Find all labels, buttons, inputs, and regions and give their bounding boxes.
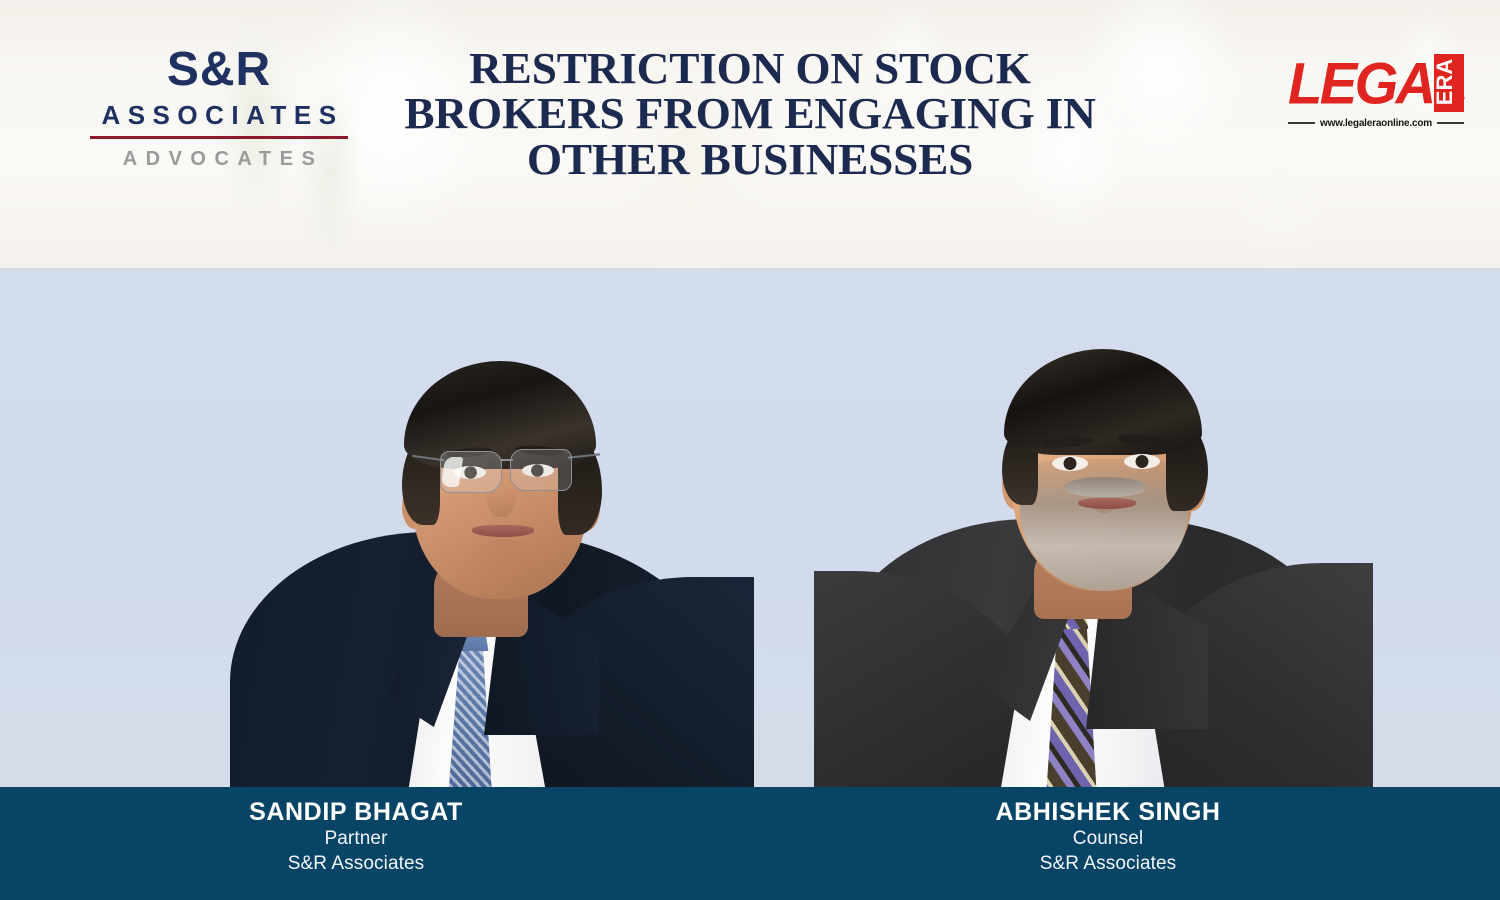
speaker-name-banner: SANDIP BHAGAT Partner S&R Associates ABH… xyxy=(0,787,1500,900)
portrait-sandip-bhagat xyxy=(216,268,746,787)
banner-canvas: S&R ASSOCIATES ADVOCATES RESTRICTION ON … xyxy=(0,0,1500,900)
chin-shading xyxy=(466,539,540,579)
publisher-logo-era-text: ERA xyxy=(1434,54,1456,110)
firm-logo-divider-rule xyxy=(90,136,348,139)
header-bar: S&R ASSOCIATES ADVOCATES RESTRICTION ON … xyxy=(0,0,1500,268)
eye-left xyxy=(1052,456,1088,471)
firm-logo-associates: ASSOCIATES xyxy=(74,99,364,132)
speaker-firm: S&R Associates xyxy=(288,851,425,876)
publisher-logo-rule-left xyxy=(1288,122,1315,124)
page-title-line-2: BROKERS FROM ENGAGING IN xyxy=(369,91,1131,136)
mustache xyxy=(1064,477,1146,497)
publisher-logo-rule-right xyxy=(1437,122,1464,124)
firm-logo-initials: S&R xyxy=(74,46,364,95)
speaker-card-right: ABHISHEK SINGH Counsel S&R Associates xyxy=(750,787,1500,900)
eyeglass-lens-right xyxy=(510,449,572,491)
page-title: RESTRICTION ON STOCK BROKERS FROM ENGAGI… xyxy=(369,46,1131,182)
hair xyxy=(1004,349,1202,455)
firm-logo-s-and-r: S&R ASSOCIATES ADVOCATES xyxy=(74,46,364,171)
portrait-abhishek-singh xyxy=(820,268,1365,787)
speaker-role: Counsel xyxy=(1073,826,1143,851)
speaker-firm: S&R Associates xyxy=(1040,851,1177,876)
eyeglass-bridge xyxy=(501,459,513,461)
speaker-name: ABHISHEK SINGH xyxy=(995,798,1220,826)
publisher-logo-url: www.legaleraonline.com xyxy=(1320,118,1432,129)
publisher-logo-legal-era: LEGAL ERA www.legaleraonline.com xyxy=(1288,54,1464,134)
page-title-line-1: RESTRICTION ON STOCK xyxy=(369,46,1131,91)
mouth xyxy=(1078,498,1136,509)
mouth xyxy=(472,525,534,537)
publisher-logo-url-row: www.legaleraonline.com xyxy=(1288,115,1464,131)
firm-logo-advocates: ADVOCATES xyxy=(74,148,364,171)
page-title-line-3: OTHER BUSINESSES xyxy=(369,137,1131,182)
speaker-card-left: SANDIP BHAGAT Partner S&R Associates xyxy=(0,787,750,900)
speaker-role: Partner xyxy=(324,826,387,851)
publisher-logo-wordmark-row: LEGAL ERA xyxy=(1288,54,1464,112)
eye-right xyxy=(1124,454,1160,469)
portrait-band xyxy=(0,268,1500,787)
speaker-name: SANDIP BHAGAT xyxy=(249,798,463,826)
